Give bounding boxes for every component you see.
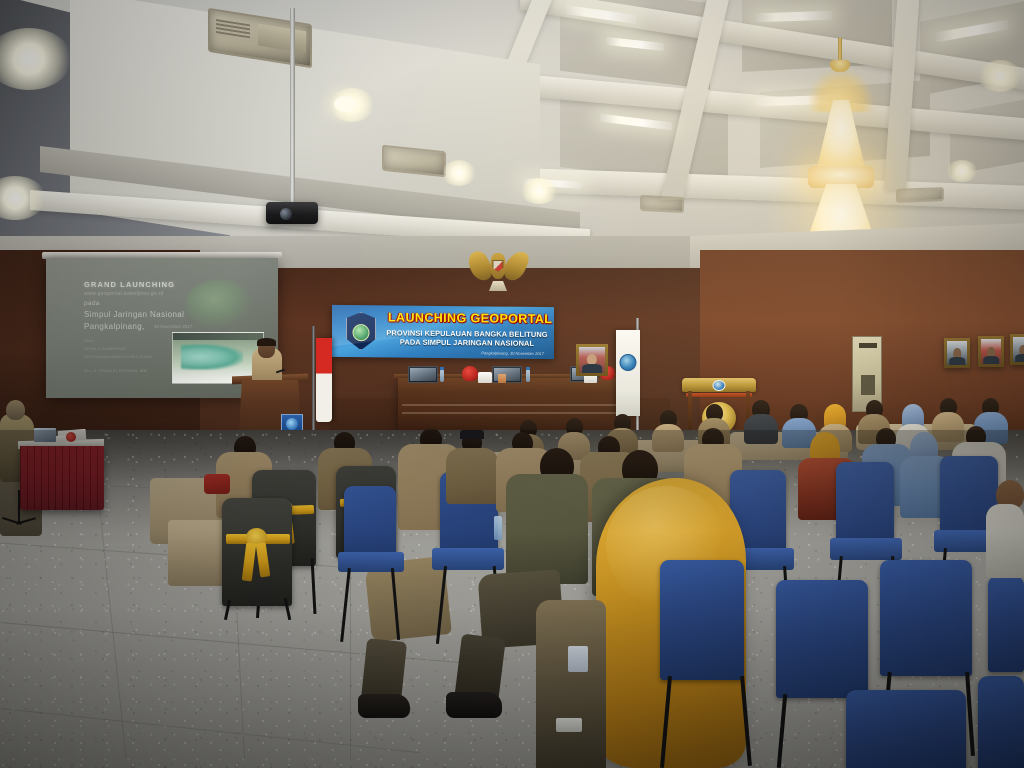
- water-bottle: [494, 516, 502, 540]
- attendee-shoe: [446, 692, 502, 718]
- peci-cap: [460, 430, 484, 439]
- crest-globe: [286, 418, 298, 430]
- microphone-stand: [0, 490, 40, 534]
- slide-url: www.geoportal.babelprov.go.id: [84, 291, 164, 297]
- attendee-torso: [932, 412, 964, 442]
- wall-portrait-frame: [1010, 334, 1024, 365]
- attendee-shoe: [358, 694, 410, 718]
- slide-thumbnail-header: [173, 333, 263, 340]
- slide-globe-graphic: [186, 280, 252, 328]
- attendee-torso: [986, 504, 1024, 578]
- head-table: [398, 378, 624, 434]
- slide-title: GRAND LAUNCHING: [84, 280, 175, 289]
- slide-line-2: Pangkalpinang,: [84, 322, 145, 331]
- attendee-torso: [506, 474, 588, 584]
- conference-hall-photo: GRAND LAUNCHING www.geoportal.babelprov.…: [0, 0, 1024, 768]
- recessed-downlight: [442, 160, 476, 186]
- operator-head: [6, 400, 25, 420]
- slide-small-1: Oleh :: [84, 338, 96, 343]
- garuda-tail: [489, 281, 507, 291]
- name-tag: [568, 646, 588, 672]
- blue-chair: [776, 580, 868, 698]
- slide-connector: pada: [84, 300, 100, 307]
- attendee-torso: [652, 424, 684, 452]
- blue-chair: [988, 576, 1024, 672]
- laptop: [34, 428, 56, 442]
- projector-mount-pole: [290, 8, 295, 204]
- blue-chair: [836, 462, 894, 546]
- official-portrait: [576, 344, 608, 376]
- attendee-foreground-lower: [536, 600, 606, 768]
- gong-badge: [713, 380, 726, 391]
- ceiling: [0, 0, 1024, 268]
- slide-thumbnail-map: [181, 344, 243, 370]
- water-bottle: [526, 370, 530, 382]
- decorative-ball: [66, 432, 76, 442]
- flag-pole-indonesia: [312, 326, 315, 436]
- attendee-torso: [446, 448, 498, 504]
- slide-small-3: KEPULAUAN BANGKA BELITUNG: [84, 354, 152, 359]
- recessed-downlight: [520, 178, 558, 204]
- cabinet-panel: [861, 375, 875, 395]
- water-bottle: [440, 370, 444, 382]
- blue-chair: [344, 486, 396, 560]
- banner-line-2: PADA SIMPUL JARINGAN NASIONAL: [384, 337, 550, 348]
- speaker-hair: [257, 338, 276, 346]
- wall-portrait-frame: [944, 338, 970, 368]
- projector-lens: [280, 208, 292, 220]
- ceiling-ac-cassette: [896, 187, 944, 203]
- tissue-box: [478, 372, 492, 383]
- blue-chair: [660, 560, 744, 680]
- gong-canopy: [682, 378, 756, 392]
- recessed-downlight: [946, 160, 978, 182]
- ceiling-projector: [266, 202, 318, 224]
- organization-flag: [616, 330, 640, 416]
- recessed-downlight: [334, 96, 356, 112]
- red-bag: [204, 474, 230, 494]
- seal-globe: [353, 324, 370, 341]
- organization-flag-emblem: [620, 354, 637, 371]
- attendee-torso: [744, 414, 778, 444]
- gong-crossbar: [686, 393, 752, 397]
- slide-small-2: KEPALA GUBERNUR: [84, 346, 126, 351]
- blue-chair: [978, 676, 1024, 768]
- garuda-pancasila-emblem: [470, 247, 526, 289]
- banner-subline: Pangkalpinang, 30 November 2017: [481, 350, 544, 356]
- recessed-downlight: [978, 60, 1022, 92]
- drinking-glass: [498, 374, 506, 383]
- blue-chair: [880, 560, 972, 676]
- banner-headline: LAUNCHING GEOPORTAL: [388, 311, 548, 325]
- slide-line-1: Simpul Jaringan Nasional: [84, 310, 184, 319]
- provincial-seal-logo: [346, 312, 376, 350]
- laptop: [408, 366, 438, 383]
- laptop: [492, 366, 522, 383]
- name-tag: [556, 718, 582, 732]
- cabinet-slot: [859, 343, 877, 348]
- blue-chair: [846, 690, 966, 768]
- wall-portrait-frame: [978, 336, 1004, 367]
- slide-date: 30 November 2017: [154, 324, 192, 329]
- bendera-merah-putih: [316, 338, 332, 422]
- gong-frame-left: [688, 391, 692, 433]
- ceremony-banner: LAUNCHING GEOPORTAL PROVINSI KEPULAUAN B…: [332, 305, 554, 359]
- ceiling-ac-cassette: [640, 195, 684, 213]
- flower-arrangement: [462, 366, 478, 381]
- slide-small-4: Drs. H. ERZALDI ROSMAN, MM: [84, 368, 147, 373]
